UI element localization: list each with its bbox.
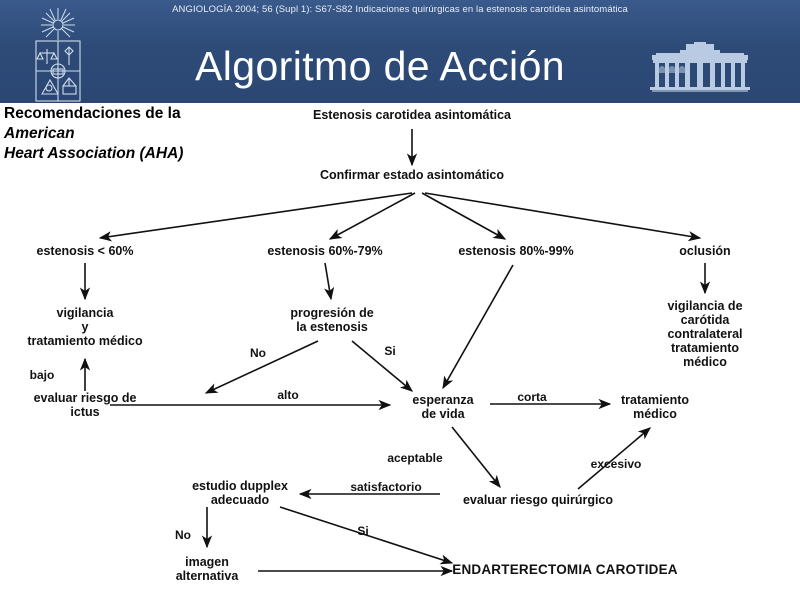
node-estenosis-lt-60: estenosis < 60% — [37, 244, 134, 258]
edge-progresion-si — [352, 341, 412, 391]
node-evaluar-riesgo-quirurgico: evaluar riesgo quirúrgico — [463, 493, 613, 507]
edge-label-si-dupplex: Si — [357, 525, 368, 538]
node-estenosis-80-99: estenosis 80%-99% — [458, 244, 573, 258]
node-vigilancia-tratamiento: vigilancia y tratamiento médico — [27, 306, 142, 348]
edge-label-aceptable: aceptable — [387, 452, 442, 465]
edge-label-corta: corta — [517, 391, 546, 404]
node-evaluar-riesgo-ictus: evaluar riesgo de ictus — [34, 391, 137, 419]
node-esperanza-de-vida: esperanza de vida — [412, 393, 473, 421]
edge-8099-to-esperanza — [443, 265, 513, 388]
page-title: Algoritmo de Acción — [140, 40, 620, 92]
edge-label-si-progresion: Si — [384, 345, 395, 358]
edge-esperanza-to-riesgoquir-aceptable — [452, 427, 500, 487]
node-confirmar-estado: Confirmar estado asintomático — [320, 168, 504, 182]
node-progresion-estenosis: progresión de la estenosis — [290, 306, 373, 334]
node-endarterectomia-carotidea: ENDARTERECTOMIA CAROTIDEA — [452, 563, 678, 577]
edge-label-no-progresion: No — [250, 347, 266, 360]
journal-citation: ANGIOLOGÍA 2004; 56 (Supl 1): S67-S82 In… — [0, 4, 800, 15]
node-estudio-dupplex: estudio dupplex adecuado — [192, 479, 288, 507]
slide-header: ANGIOLOGÍA 2004; 56 (Supl 1): S67-S82 In… — [0, 0, 800, 103]
flowchart: Estenosis carotidea asintomática Confirm… — [0, 103, 800, 600]
university-crest-icon — [22, 8, 94, 104]
edge-confirmar-to-60-79 — [330, 193, 415, 239]
edge-label-bajo: bajo — [30, 369, 55, 382]
node-vigilancia-contralateral: vigilancia de carótida contralateral tra… — [658, 299, 753, 369]
node-estenosis-60-79: estenosis 60%-79% — [267, 244, 382, 258]
node-tratamiento-medico: tratamiento médico — [621, 393, 689, 421]
slide-canvas: ANGIOLOGÍA 2004; 56 (Supl 1): S67-S82 In… — [0, 0, 800, 600]
edge-label-excesivo: excesivo — [591, 458, 642, 471]
edge-label-alto: alto — [277, 389, 298, 402]
edge-confirmar-to-oclusion — [425, 193, 700, 238]
edge-confirmar-to-lt60 — [100, 193, 412, 238]
node-oclusion: oclusión — [679, 244, 730, 258]
edge-label-no-dupplex: No — [175, 529, 191, 542]
node-estenosis-carotidea: Estenosis carotidea asintomática — [313, 108, 511, 122]
edge-6079-to-progresion — [325, 263, 331, 299]
edge-label-satisfactorio: satisfactorio — [350, 481, 421, 494]
node-imagen-alternativa: imagen alternativa — [176, 555, 239, 583]
classical-building-icon — [650, 42, 750, 94]
